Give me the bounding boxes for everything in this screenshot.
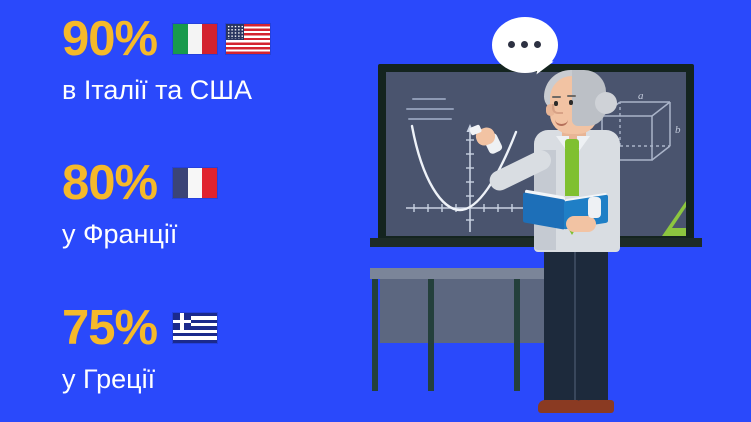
speech-dot — [521, 41, 528, 48]
stat-caption: у Греції — [0, 366, 360, 393]
stat-row: 90% — [0, 8, 360, 70]
desk-leg — [428, 279, 434, 391]
teacher-trousers — [544, 240, 608, 412]
desk-leg — [372, 279, 378, 391]
teacher-illustration: a b — [366, 0, 751, 422]
stat-caption: у Франції — [0, 221, 360, 248]
cube-label-b: b — [675, 124, 681, 136]
flag-greece-icon — [173, 313, 217, 343]
desk-top — [370, 268, 558, 279]
cube-label-a: a — [638, 90, 644, 102]
stat-block-france: 80% у Франції — [0, 152, 360, 248]
teacher-nose — [552, 104, 563, 114]
teacher-eyebrow — [552, 96, 561, 98]
infographic-canvas: 90% в Італії та США 80% у Франції — [0, 0, 751, 422]
flag-usa-icon — [226, 24, 270, 54]
stat-percent: 75% — [62, 304, 157, 353]
stat-percent: 80% — [62, 159, 157, 208]
teacher-hair-bun — [595, 92, 617, 114]
flag-group — [173, 24, 270, 54]
teacher-cuff-lower — [588, 197, 601, 218]
chalk-line — [412, 98, 446, 100]
teacher-eyebrow — [567, 95, 576, 97]
stat-caption: в Італії та США — [0, 77, 360, 104]
teacher-shoe-right — [574, 400, 614, 413]
desk-body — [380, 279, 548, 343]
triangle-ruler-icon — [658, 164, 686, 236]
flag-france-icon — [173, 168, 217, 198]
stat-block-italy-usa: 90% в Італії та США — [0, 8, 360, 104]
speech-dot — [508, 41, 515, 48]
stat-row: 75% — [0, 297, 360, 359]
stat-block-greece: 75% у Греції — [0, 297, 360, 393]
speech-dot — [534, 41, 541, 48]
desk-leg — [514, 279, 520, 391]
flag-group — [173, 313, 217, 343]
teacher-hand-holding-book — [566, 216, 596, 232]
flag-group — [173, 168, 217, 198]
flag-italy-icon — [173, 24, 217, 54]
stat-row: 80% — [0, 152, 360, 214]
teacher-eye — [569, 100, 573, 105]
stat-percent: 90% — [62, 15, 157, 64]
